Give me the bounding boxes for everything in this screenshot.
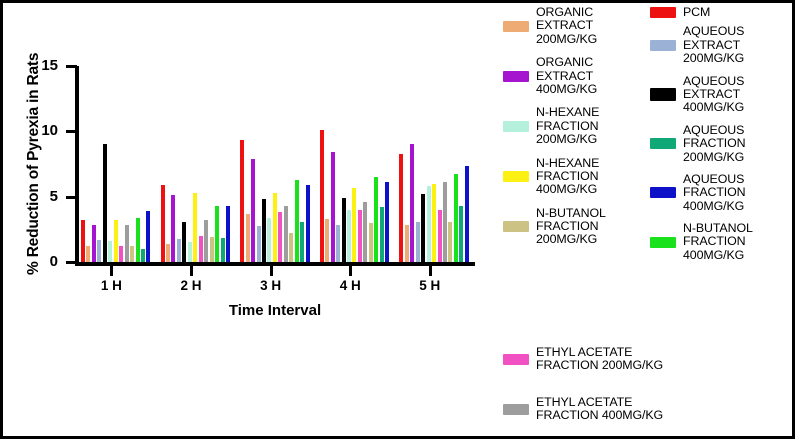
x-tick-label: 4 H [325,278,375,293]
bar [81,220,85,262]
bar [267,218,271,262]
legend-label: AQUEOUSFRACTION200MG/KG [683,124,746,164]
bar-group [240,66,311,262]
legend-item-wide-1[interactable]: ETHYL ACETATEFRACTION 400MG/KG [503,396,793,423]
x-tick-label: 1 H [86,278,136,293]
legend-label: ORGANICEXTRACT200MG/KG [536,6,597,46]
legend-label-line: FRACTION [536,170,599,183]
legend-label-line: EXTRACT [683,88,744,101]
x-axis-title: Time Interval [75,302,475,319]
legend-label-line: 200MG/KG [536,33,597,46]
legend-label-line: N-HEXANE [536,106,599,119]
bar [108,241,112,262]
legend-item-right-0[interactable]: PCM [650,6,795,19]
bar [210,237,214,262]
bar [221,238,225,262]
legend-label-line: 400MG/KG [536,183,599,196]
bar [427,186,431,262]
legend-swatch-icon [503,171,529,182]
bar [432,184,436,262]
legend-label-line: 400MG/KG [683,101,744,114]
legend-label-line: ORGANIC [536,6,597,19]
legend-label: AQUEOUSFRACTION400MG/KG [683,173,746,213]
legend-label-line: 400MG/KG [683,249,753,262]
legend-label-line: EXTRACT [536,70,597,83]
legend-label-line: AQUEOUS [683,25,744,38]
bar [342,198,346,262]
legend-item-left-3[interactable]: N-HEXANEFRACTION400MG/KG [503,157,653,197]
bar [399,154,403,262]
legend-swatch-icon [650,40,676,51]
legend-item-right-3[interactable]: AQUEOUSFRACTION200MG/KG [650,124,795,164]
legend-label-line: FRACTION [536,120,599,133]
legend-label-line: EXTRACT [536,19,597,32]
legend-swatch-icon [650,187,676,198]
bar-chart: % Reduction of Pyrexia in Rats 051015 1 … [6,6,493,439]
legend-label: N-HEXANEFRACTION400MG/KG [536,157,599,197]
bar [289,233,293,262]
plot-area [77,66,475,262]
x-tick [110,266,113,276]
legend-label-line: EXTRACT [683,39,744,52]
x-tick-label: 2 H [166,278,216,293]
bar [204,220,208,262]
legend-label: AQUEOUSEXTRACT400MG/KG [683,75,744,115]
bar [215,206,219,262]
bar [251,159,255,262]
legend-column-right: PCMAQUEOUSEXTRACT200MG/KGAQUEOUSEXTRACT4… [650,6,795,271]
bar [421,194,425,262]
legend-label-line: AQUEOUS [683,124,746,137]
legend-item-left-4[interactable]: N-BUTANOLFRACTION200MG/KG [503,207,653,247]
bar [416,222,420,262]
bar [182,222,186,263]
legend-label: ETHYL ACETATEFRACTION 200MG/KG [536,346,663,373]
legend-item-left-2[interactable]: N-HEXANEFRACTION200MG/KG [503,106,653,146]
legend-label-line: N-HEXANE [536,157,599,170]
bar [358,210,362,262]
bar [300,222,304,263]
legend-label: AQUEOUSEXTRACT200MG/KG [683,25,744,65]
legend-label-line: FRACTION [536,220,606,233]
bar [410,144,414,262]
x-tick [429,266,432,276]
legend-item-right-5[interactable]: N-BUTANOLFRACTION400MG/KG [650,222,795,262]
bar [306,185,310,262]
bar [141,249,145,262]
bar [114,220,118,262]
bar [369,223,373,262]
bar [278,212,282,262]
x-tick [349,266,352,276]
legend: ORGANICEXTRACT200MG/KGORGANICEXTRACT400M… [495,6,795,439]
x-tick [270,266,273,276]
legend-label-line: 400MG/KG [683,200,746,213]
legend-swatch-icon [503,404,529,415]
legend-label-line: AQUEOUS [683,75,744,88]
bar [262,199,266,262]
x-tick-label: 5 H [405,278,455,293]
legend-label: ETHYL ACETATEFRACTION 400MG/KG [536,396,663,423]
x-axis-line [75,262,475,266]
legend-label-line: FRACTION [683,137,746,150]
bar [405,225,409,262]
bar [352,188,356,262]
legend-label: ORGANICEXTRACT400MG/KG [536,56,597,96]
y-tick-label: 0 [24,254,58,269]
bar [146,211,150,262]
legend-label-line: PCM [683,6,710,19]
bar [125,225,129,262]
y-tick-label: 15 [24,58,58,73]
legend-swatch-icon [503,354,529,365]
bar [199,236,203,262]
bar [177,239,181,262]
bar-group [81,66,152,262]
figure-frame: % Reduction of Pyrexia in Rats 051015 1 … [0,0,795,439]
bar [193,193,197,262]
bar [240,140,244,262]
bar [448,222,452,263]
bar-group [161,66,232,262]
bar [86,246,90,262]
legend-label-line: ORGANIC [536,56,597,69]
bar [295,180,299,262]
bar [97,240,101,262]
legend-label-line: 200MG/KG [536,233,606,246]
legend-label: N-BUTANOLFRACTION400MG/KG [683,222,753,262]
legend-item-wide-0[interactable]: ETHYL ACETATEFRACTION 200MG/KG [503,346,793,373]
bar [257,226,261,262]
x-tick [190,266,193,276]
legend-label-line: ETHYL ACETATE [536,396,663,409]
legend-item-left-0[interactable]: ORGANICEXTRACT200MG/KG [503,6,653,46]
bar [454,174,458,262]
bar [380,207,384,262]
legend-label-line: N-BUTANOL [536,207,606,220]
bar [325,219,329,262]
x-tick-label: 3 H [246,278,296,293]
legend-label-line: N-BUTANOL [683,222,753,235]
bar-group [320,66,391,262]
legend-item-right-1[interactable]: AQUEOUSEXTRACT200MG/KG [650,25,795,65]
bar [459,206,463,262]
y-axis-title: % Reduction of Pyrexia in Rats [25,55,43,275]
bar [166,244,170,262]
legend-label-line: FRACTION [683,186,746,199]
legend-swatch-icon [650,88,676,101]
legend-label-line: FRACTION [683,235,753,248]
bar [385,182,389,262]
bar [363,202,367,262]
legend-swatch-icon [503,221,529,232]
legend-label-line: ETHYL ACETATE [536,346,663,359]
bar [284,206,288,262]
legend-swatch-icon [650,138,676,149]
legend-item-left-1[interactable]: ORGANICEXTRACT400MG/KG [503,56,653,96]
legend-swatch-icon [503,121,529,132]
bar [188,242,192,262]
legend-label-line: FRACTION 200MG/KG [536,359,663,372]
legend-item-right-4[interactable]: AQUEOUSFRACTION400MG/KG [650,173,795,213]
bar [171,195,175,262]
bar [331,152,335,262]
legend-label-line: 200MG/KG [683,151,746,164]
y-tick-label: 10 [24,123,58,138]
bar [374,177,378,262]
bar [130,246,134,262]
bar [438,210,442,262]
bar [246,214,250,262]
bar [119,246,123,262]
legend-label-line: 200MG/KG [683,52,744,65]
bar [465,166,469,262]
legend-swatch-icon [650,237,676,248]
legend-label-line: AQUEOUS [683,173,746,186]
bar [161,185,165,262]
legend-label: N-HEXANEFRACTION200MG/KG [536,106,599,146]
legend-label-line: 400MG/KG [536,83,597,96]
legend-label-line: FRACTION 400MG/KG [536,409,663,422]
legend-column-left: ORGANICEXTRACT200MG/KGORGANICEXTRACT400M… [503,6,653,257]
y-tick-label: 5 [24,189,58,204]
legend-swatch-icon [503,71,529,82]
bar [320,130,324,262]
legend-label-line: 200MG/KG [536,133,599,146]
legend-swatch-icon [503,21,529,32]
bar [336,225,340,262]
legend-item-right-2[interactable]: AQUEOUSEXTRACT400MG/KG [650,75,795,115]
bar [443,182,447,262]
legend-label: PCM [683,6,710,19]
bar-group [399,66,470,262]
bar [273,193,277,262]
bar [136,218,140,262]
bar [92,225,96,262]
legend-label: N-BUTANOLFRACTION200MG/KG [536,207,606,247]
legend-swatch-icon [650,7,676,18]
bar [103,144,107,262]
bar [226,206,230,262]
bar [347,210,351,262]
